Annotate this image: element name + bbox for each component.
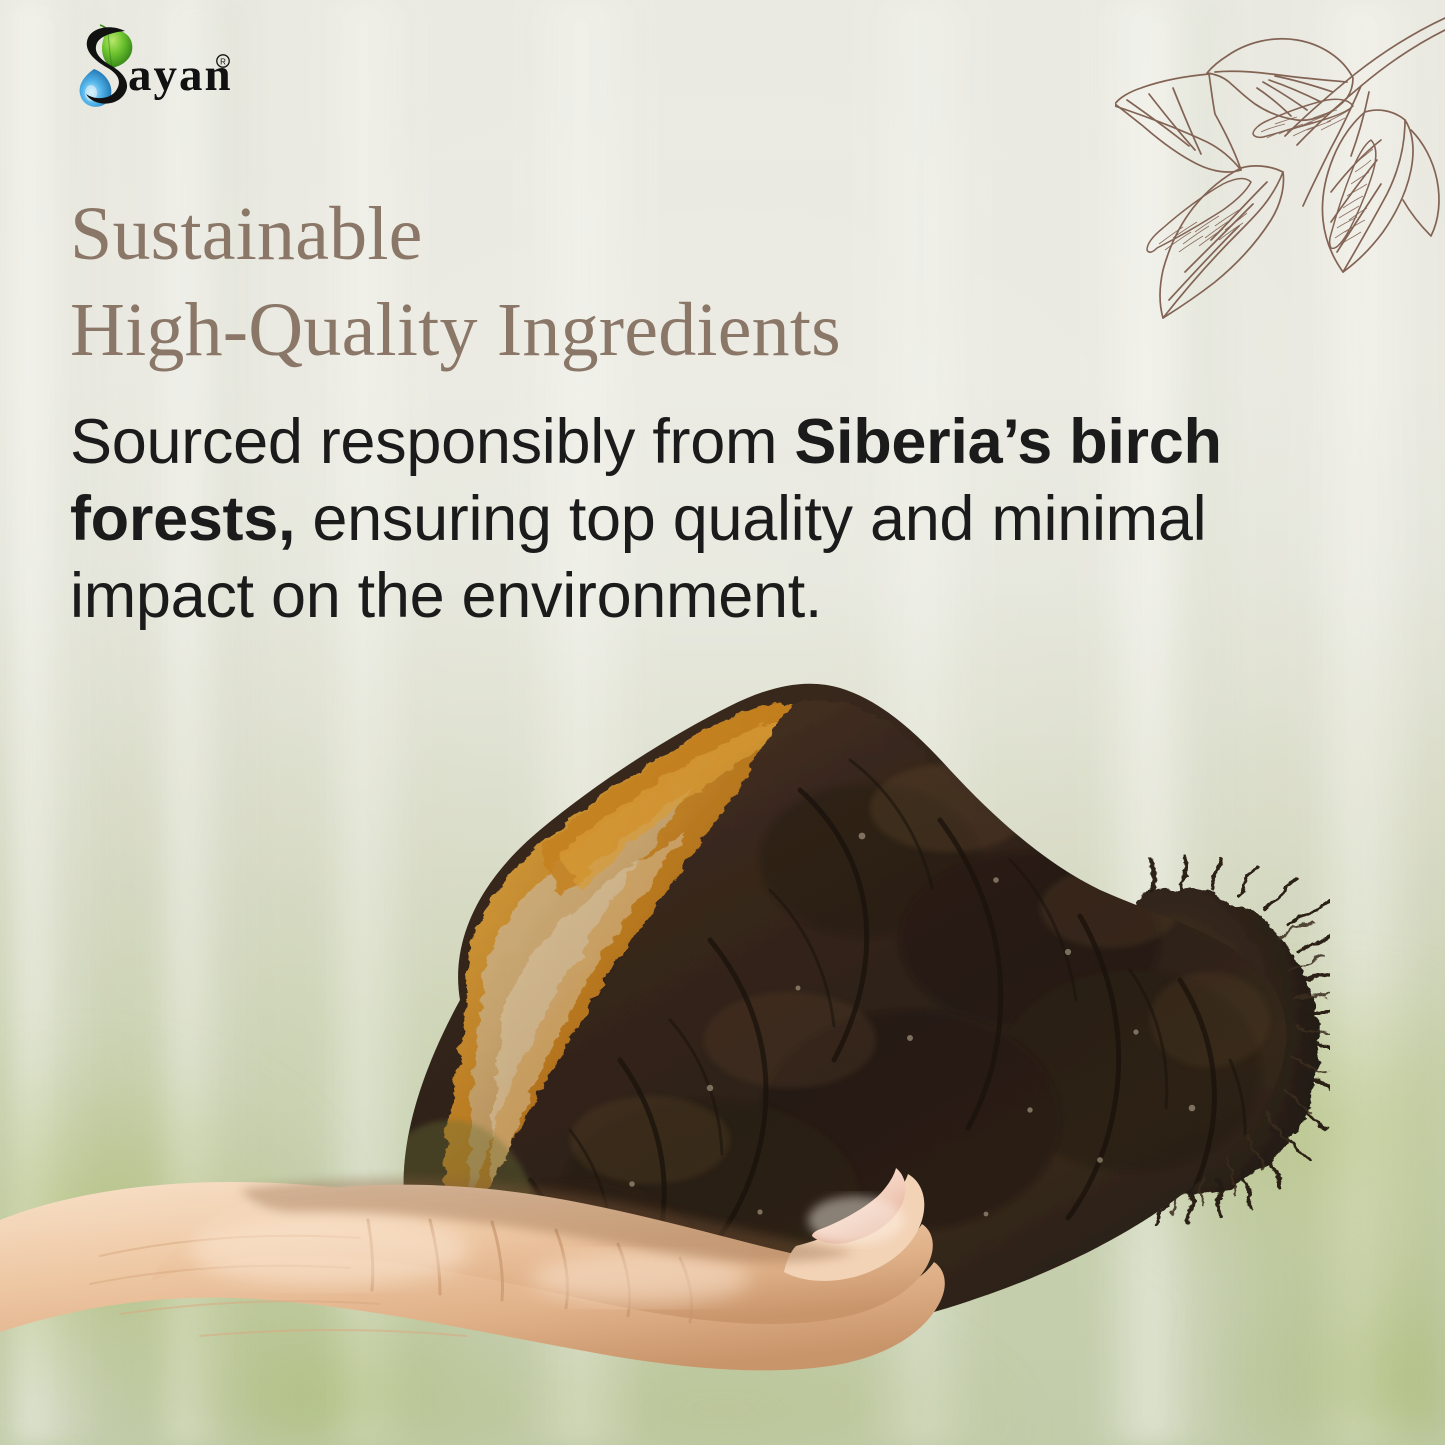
body-copy-part-1: Sourced responsibly from [70, 407, 794, 477]
birch-branch-line-art-icon [1115, 0, 1445, 345]
hand-image [0, 1070, 1320, 1445]
product-photo [0, 600, 1445, 1445]
svg-text:R: R [220, 58, 226, 67]
headline-line-1: Sustainable [70, 186, 1130, 282]
headline-line-2: High-Quality Ingredients [70, 282, 1130, 378]
brand-logo[interactable]: ayan R [62, 22, 237, 117]
page-title: Sustainable High-Quality Ingredients [70, 186, 1130, 378]
brand-wordmark: ayan [128, 49, 233, 101]
marketing-banner: ayan R [0, 0, 1445, 1445]
